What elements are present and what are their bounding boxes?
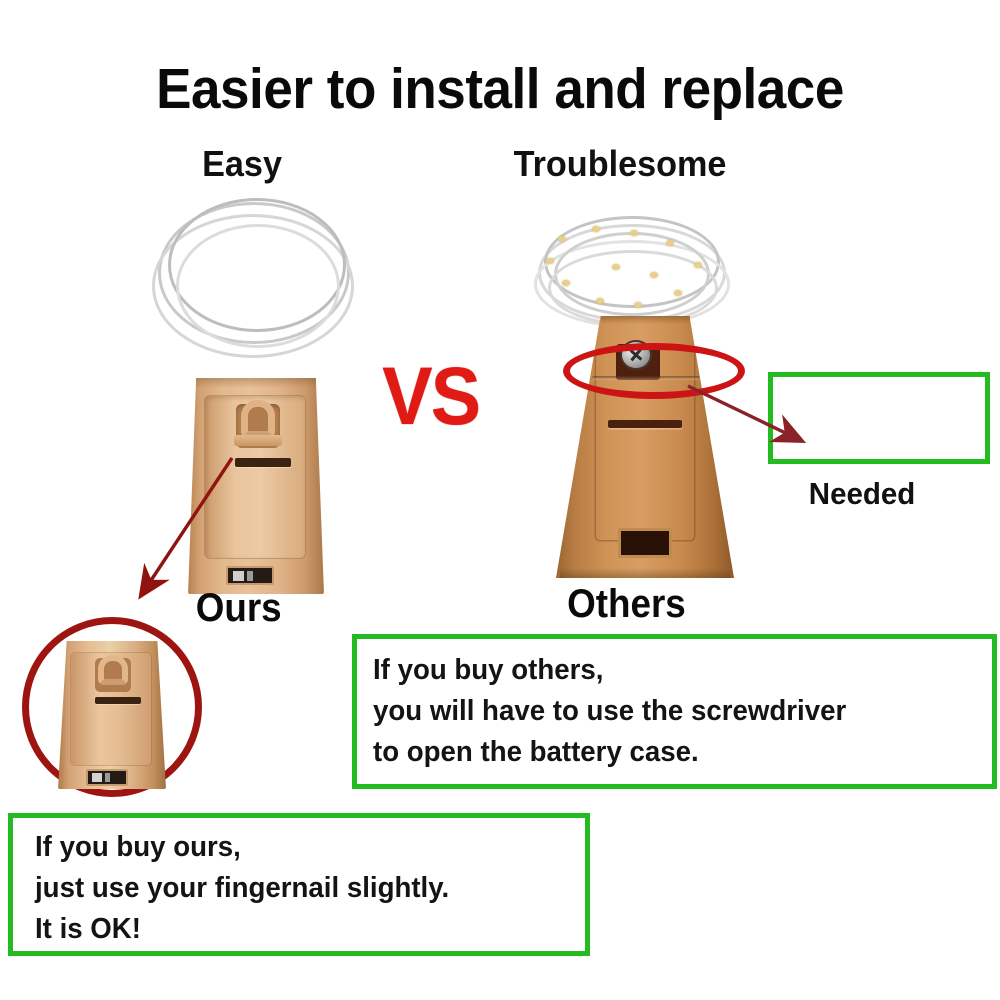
- others-led-wire-coil: [534, 214, 726, 326]
- ours-switch-marker: [247, 571, 253, 581]
- infographic-canvas: Easier to install and replace Easy Troub…: [0, 0, 1000, 1000]
- callout-others-line-1: If you buy others,: [373, 650, 973, 691]
- column-title-troublesome: Troublesome: [514, 143, 727, 185]
- versus-label: VS: [382, 350, 479, 444]
- others-power-switch: [618, 528, 672, 558]
- ours-cork-top-shade: [196, 378, 316, 388]
- others-cork-rim: [601, 316, 690, 324]
- column-title-easy: Easy: [202, 143, 282, 185]
- page-title: Easier to install and replace: [35, 56, 965, 122]
- ours-switch-toggle: [233, 571, 244, 581]
- ours-pull-tab-bar: [234, 435, 282, 446]
- magnified-battery-door: [71, 653, 151, 765]
- screw-head-highlight: [563, 343, 745, 399]
- ours-pull-tab-loop: [241, 400, 275, 438]
- callout-others-box: If you buy others, you will have to use …: [352, 634, 997, 789]
- callout-ours-box: If you buy ours, just use your fingernai…: [8, 813, 590, 956]
- magnified-switch-marker: [105, 773, 110, 782]
- product-ours-cork-stopper: [188, 378, 324, 594]
- magnified-fingernail-slot: [95, 697, 141, 704]
- brand-label-ours: Ours: [196, 586, 282, 631]
- callout-others-line-3: to open the battery case.: [373, 732, 973, 773]
- ours-wire-coil: [150, 198, 356, 368]
- others-base-shadow: [560, 568, 731, 578]
- needed-label: Needed: [809, 476, 915, 512]
- callout-ours-line-1: If you buy ours,: [35, 827, 569, 868]
- magnified-pull-tab-loop: [98, 655, 128, 685]
- magnified-power-switch: [86, 769, 128, 786]
- magnified-switch-toggle: [92, 773, 102, 782]
- ours-battery-door: [205, 396, 305, 558]
- ours-fingernail-slot: [235, 458, 291, 467]
- screwdriver-callout-box: [768, 372, 990, 464]
- callout-others-line-2: you will have to use the screwdriver: [373, 691, 973, 732]
- callout-ours-line-2: just use your fingernail slightly.: [35, 868, 569, 909]
- ours-power-switch: [226, 566, 274, 585]
- others-door-slot: [608, 420, 682, 428]
- callout-ours-line-3: It is OK!: [35, 909, 569, 950]
- brand-label-others: Others: [567, 582, 686, 627]
- magnified-ours-cork: [58, 641, 166, 789]
